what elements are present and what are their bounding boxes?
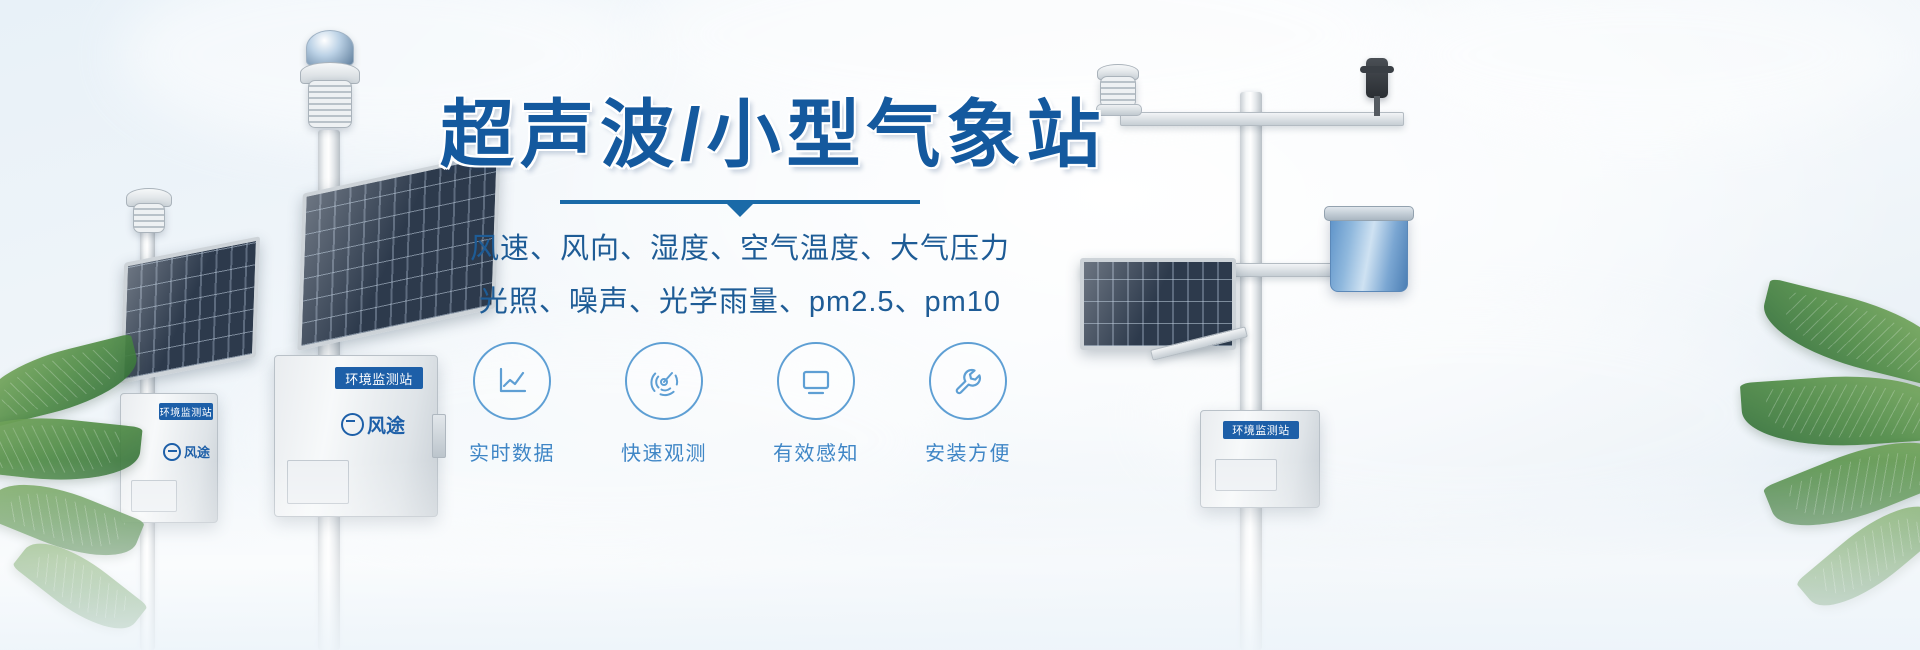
feature-label: 安装方便: [925, 437, 1011, 466]
line-chart-icon: [473, 342, 551, 420]
cabinet-label: 环境监测站: [1223, 421, 1299, 439]
feature-label: 有效感知: [773, 437, 859, 466]
cross-arm: [1120, 112, 1404, 126]
brand-logo: 风途: [341, 411, 405, 438]
brand-mark-icon: [163, 443, 181, 461]
bottom-haze: [0, 460, 1920, 650]
brand-name: 风途: [184, 442, 210, 461]
monitor-icon: [777, 342, 855, 420]
feature-item-easy-installation[interactable]: 安装方便: [906, 342, 1030, 466]
cabinet-label: 环境监测站: [159, 403, 213, 420]
cabinet-label: 环境监测站: [335, 367, 423, 389]
wind-vane-icon: [1360, 66, 1394, 73]
feature-label: 实时数据: [469, 437, 555, 466]
sensor-stem: [1374, 96, 1380, 116]
feature-item-fast-observation[interactable]: 快速观测: [602, 342, 726, 466]
radar-signal-icon: [625, 342, 703, 420]
feature-list: 实时数据 快速观测: [440, 342, 1040, 466]
temp-humidity-shield-icon: [308, 80, 352, 128]
brand-mark-icon: [341, 413, 364, 436]
subtitle-line-1: 风速、风向、湿度、空气温度、大气压力: [440, 226, 1040, 273]
brand-logo: 风途: [163, 442, 210, 461]
banner-copy: 超声波/小型气象站 风速、风向、湿度、空气温度、大气压力 光照、噪声、光学雨量、…: [440, 96, 1040, 326]
rain-gauge-lid: [1324, 206, 1414, 221]
temp-humidity-shield-icon: [133, 203, 165, 233]
product-banner: 环境监测站 风途 环境监测站 风途: [0, 0, 1920, 650]
title-divider: [560, 200, 920, 204]
page-title: 超声波/小型气象站: [440, 96, 1040, 174]
wrench-icon: [929, 342, 1007, 420]
brand-name: 风途: [367, 411, 405, 438]
rain-gauge: [1330, 212, 1408, 292]
subtitle-line-2: 光照、噪声、光学雨量、pm2.5、pm10: [440, 279, 1040, 326]
feature-item-realtime-data[interactable]: 实时数据: [450, 342, 574, 466]
feature-label: 快速观测: [621, 437, 707, 466]
feature-item-effective-sensing[interactable]: 有效感知: [754, 342, 878, 466]
leaf-shape: [1755, 278, 1920, 388]
cloud-shape: [1380, 0, 1900, 140]
optical-rain-sensor-icon: [306, 30, 354, 66]
leaf-shape: [1740, 369, 1920, 453]
wind-direction-sensor-icon: [1366, 58, 1388, 98]
